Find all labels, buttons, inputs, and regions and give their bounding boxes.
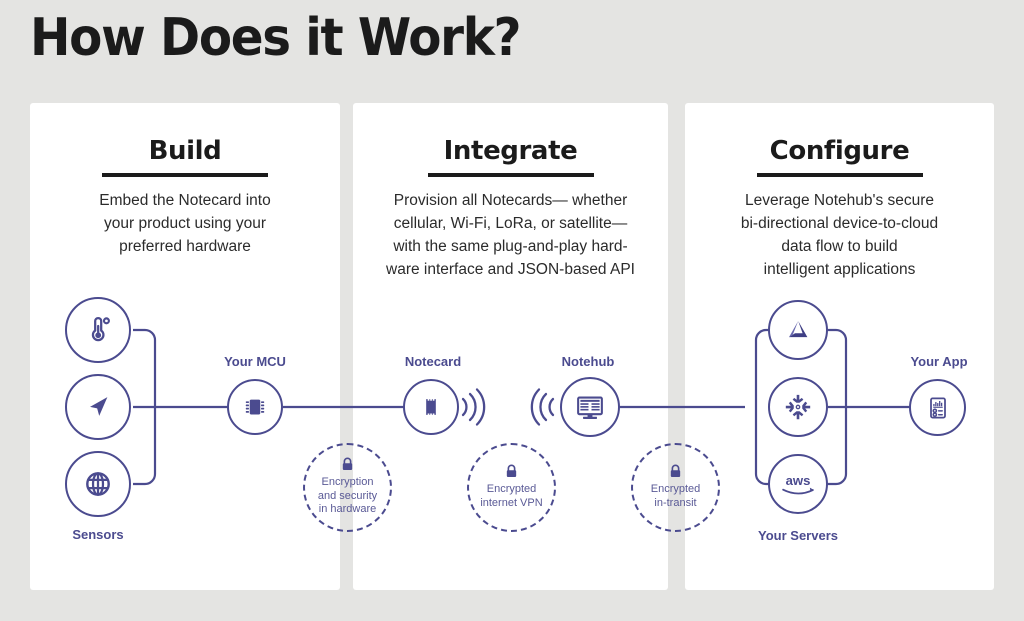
badge-in-transit: Encrypted in-transit <box>631 443 720 532</box>
badge-hw-security-text: Encryption and security in hardware <box>318 476 377 516</box>
app-node[interactable] <box>909 379 966 436</box>
aws-logo-icon: aws <box>777 469 819 499</box>
sensors-group-label: Sensors <box>45 527 151 542</box>
badge-vpn: Encrypted internet VPN <box>467 443 556 532</box>
badge-in-transit-text: Encrypted in-transit <box>651 483 701 510</box>
sensor-node-location[interactable] <box>65 374 131 440</box>
lock-icon <box>667 463 684 480</box>
radio-waves-right-icon <box>457 383 489 431</box>
monitor-dashboard-icon <box>574 391 606 423</box>
servers-group-label: Your Servers <box>743 528 853 543</box>
lock-icon <box>339 456 356 473</box>
radio-waves-left-icon <box>527 383 559 431</box>
notehub-node[interactable] <box>560 377 620 437</box>
notecard-node[interactable] <box>403 379 459 435</box>
server-node-aws[interactable]: aws <box>768 454 828 514</box>
app-dashboard-icon <box>924 394 952 422</box>
lock-icon <box>503 463 520 480</box>
mcu-label: Your MCU <box>200 354 310 369</box>
infographic-canvas: How Does it Work? Build Embed the Noteca… <box>0 0 1024 621</box>
notecard-icon <box>417 393 445 421</box>
chip-icon <box>241 393 269 421</box>
notehub-label: Notehub <box>533 354 643 369</box>
sensor-node-network[interactable] <box>65 451 131 517</box>
azure-logo-icon <box>783 315 813 345</box>
badge-hw-security: Encryption and security in hardware <box>303 443 392 532</box>
mcu-node[interactable] <box>227 379 283 435</box>
navigation-arrow-icon <box>83 392 113 422</box>
app-label: Your App <box>884 354 994 369</box>
thermometer-icon <box>83 315 113 345</box>
globe-icon <box>83 469 113 499</box>
svg-text:aws: aws <box>786 473 811 488</box>
flow-diagram: Sensors Your MCU <box>0 0 1024 621</box>
snowflake-logo-icon <box>783 392 813 422</box>
server-node-snowflake[interactable] <box>768 377 828 437</box>
badge-vpn-text: Encrypted internet VPN <box>480 483 542 510</box>
sensor-node-temperature[interactable] <box>65 297 131 363</box>
server-node-azure[interactable] <box>768 300 828 360</box>
notecard-label: Notecard <box>378 354 488 369</box>
